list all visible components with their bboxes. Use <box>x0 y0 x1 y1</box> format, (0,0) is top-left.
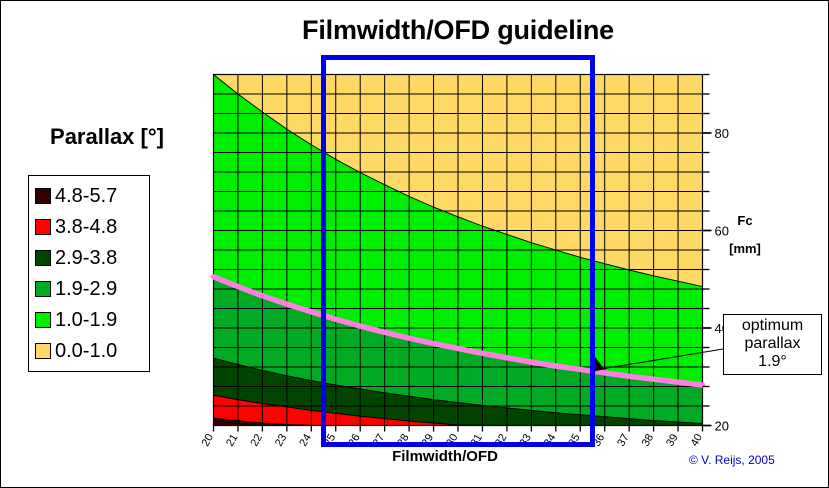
svg-text:38: 38 <box>640 432 657 449</box>
svg-text:23: 23 <box>273 432 290 449</box>
annotation-line-2: parallax <box>724 335 821 353</box>
chart-page: Filmwidth/OFD guideline Parallax [°] 4.8… <box>0 0 829 488</box>
y-axis-unit: [mm] <box>718 241 772 256</box>
annotation-line-1: optimum <box>724 317 821 335</box>
y-axis-label: Fc <box>723 213 767 228</box>
svg-text:39: 39 <box>664 432 681 449</box>
svg-text:80: 80 <box>715 126 729 141</box>
svg-text:40: 40 <box>689 432 706 449</box>
annotation-line-3: 1.9° <box>724 353 821 371</box>
svg-text:22: 22 <box>248 432 265 449</box>
annotation-callout: optimum parallax 1.9° <box>723 314 822 375</box>
copyright-notice: © V. Reijs, 2005 <box>689 453 775 467</box>
chart-canvas: 2040608020212223242526272829303132333435… <box>1 1 829 488</box>
svg-text:20: 20 <box>200 432 217 449</box>
svg-text:21: 21 <box>224 432 241 449</box>
svg-text:24: 24 <box>297 432 314 449</box>
x-axis-label: Filmwidth/OFD <box>310 448 580 465</box>
svg-text:20: 20 <box>715 419 729 434</box>
svg-text:37: 37 <box>615 432 632 449</box>
plot-area: 2040608020212223242526272829303132333435… <box>1 1 829 488</box>
